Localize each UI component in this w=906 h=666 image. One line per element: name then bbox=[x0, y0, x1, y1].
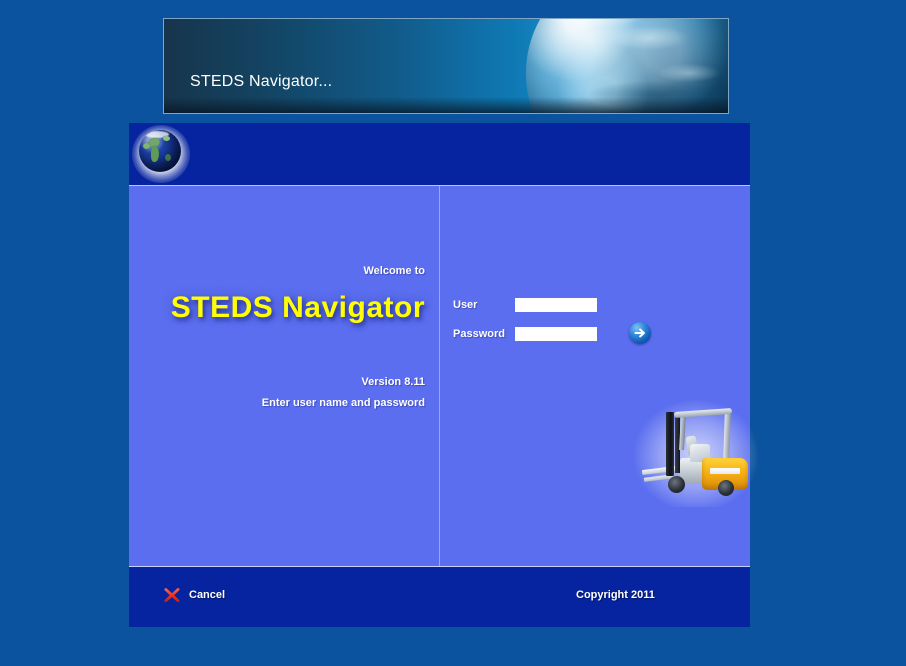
globe-landmass bbox=[163, 136, 170, 141]
branding-panel: Welcome to STEDS Navigator Version 8.11 … bbox=[129, 186, 439, 566]
cancel-label: Cancel bbox=[189, 589, 225, 601]
forklift-wheel bbox=[668, 476, 685, 493]
forklift-image bbox=[640, 406, 752, 501]
credentials-panel: User Password bbox=[440, 186, 750, 566]
globe-ball bbox=[139, 130, 181, 172]
earth-globe-icon bbox=[132, 125, 190, 183]
splash-banner-shade bbox=[164, 97, 728, 113]
copyright-label: Copyright 2011 bbox=[576, 589, 655, 601]
submit-login-button[interactable] bbox=[629, 322, 651, 344]
dialog-titlebar bbox=[129, 123, 750, 186]
login-dialog: Welcome to STEDS Navigator Version 8.11 … bbox=[129, 123, 750, 625]
globe-landmass bbox=[151, 146, 159, 162]
globe-landmass bbox=[143, 143, 150, 149]
welcome-label: Welcome to bbox=[363, 265, 425, 277]
user-input[interactable] bbox=[515, 298, 597, 312]
splash-banner: STEDS Navigator... bbox=[163, 18, 729, 114]
splash-title: STEDS Navigator... bbox=[190, 73, 332, 91]
user-row: User bbox=[453, 297, 597, 313]
dialog-footer: Cancel Copyright 2011 bbox=[129, 566, 750, 627]
forklift-mast bbox=[666, 412, 674, 476]
version-label: Version 8.11 bbox=[361, 376, 425, 388]
red-x-icon bbox=[162, 585, 182, 605]
dialog-body: Welcome to STEDS Navigator Version 8.11 … bbox=[129, 186, 750, 566]
globe-landmass bbox=[165, 154, 171, 161]
password-input[interactable] bbox=[515, 327, 597, 341]
product-title: STEDS Navigator bbox=[171, 291, 425, 325]
password-row: Password bbox=[453, 326, 597, 342]
forklift-wheel bbox=[718, 480, 734, 496]
user-label: User bbox=[453, 299, 515, 311]
forklift-stripe bbox=[710, 468, 740, 474]
cancel-button[interactable]: Cancel bbox=[162, 585, 225, 605]
password-label: Password bbox=[453, 328, 515, 340]
arrow-right-icon bbox=[633, 326, 647, 340]
login-hint-label: Enter user name and password bbox=[262, 397, 425, 409]
